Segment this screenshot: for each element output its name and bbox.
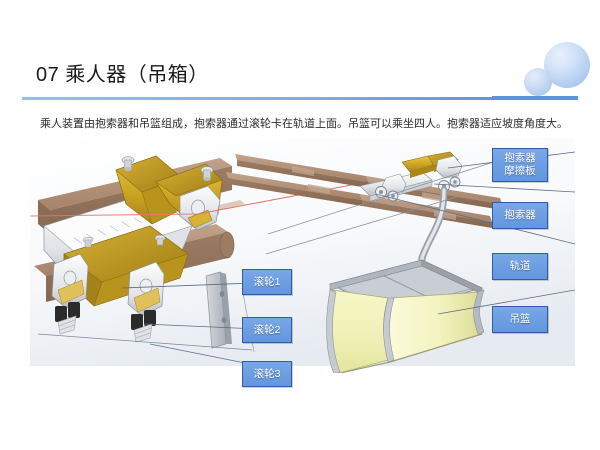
decorative-circle-large-icon — [544, 42, 590, 88]
callout-grip-friction-plate-line1: 抱索器 — [504, 152, 536, 165]
slide-subtitle: 乘人装置由抱索器和吊篮组成，抱索器通过滚轮卡在轨道上面。吊篮可以乘坐四人。抱索器… — [40, 116, 570, 132]
callout-gondola[interactable]: 吊篮 — [492, 306, 548, 333]
callout-gondola-label: 吊篮 — [510, 313, 531, 326]
callout-roller-2[interactable]: 滚轮2 — [242, 317, 292, 343]
slide-root: 07 乘人器（吊箱） 乘人装置由抱索器和吊篮组成，抱索器通过滚轮卡在轨道上面。吊… — [0, 0, 600, 450]
callout-roller-2-label: 滚轮2 — [254, 324, 281, 337]
title-divider — [22, 97, 578, 100]
callout-roller-1[interactable]: 滚轮1 — [242, 269, 292, 295]
page-title: 07 乘人器（吊箱） — [36, 58, 209, 87]
callout-gripper-label: 抱索器 — [504, 209, 536, 222]
callout-track-label: 轨道 — [510, 260, 531, 273]
callout-track[interactable]: 轨道 — [492, 253, 548, 280]
callout-grip-friction-plate-line2: 摩擦板 — [504, 165, 536, 178]
callout-roller-3-label: 滚轮3 — [254, 368, 281, 381]
callout-roller-1-label: 滚轮1 — [254, 276, 281, 289]
decorative-circle-small-icon — [524, 68, 552, 96]
callout-gripper[interactable]: 抱索器 — [492, 202, 548, 229]
callout-grip-friction-plate[interactable]: 抱索器 摩擦板 — [492, 148, 548, 182]
callout-roller-3[interactable]: 滚轮3 — [242, 361, 292, 387]
